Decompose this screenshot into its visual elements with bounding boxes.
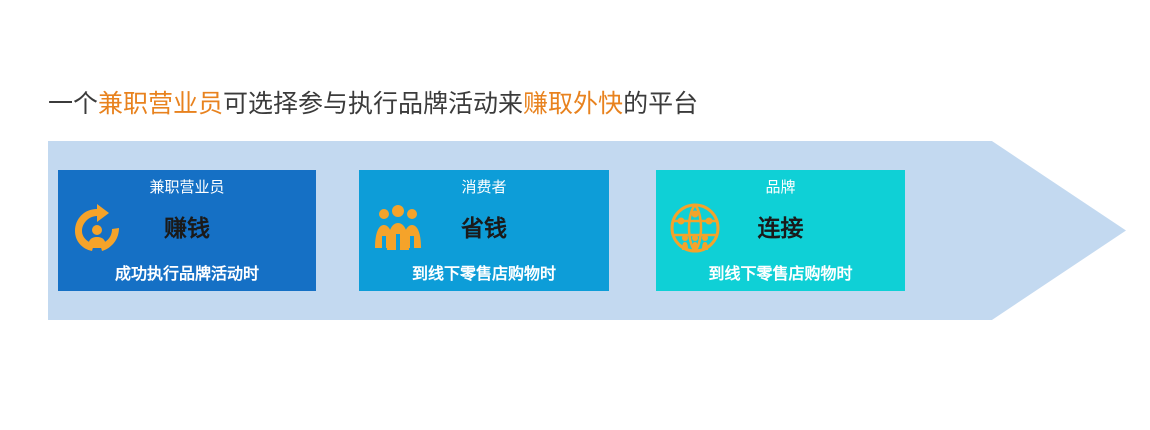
card-main: 连接	[656, 214, 905, 244]
card-title: 品牌	[656, 177, 905, 197]
card-main: 省钱	[359, 214, 609, 244]
card-brand[interactable]: 品牌 连接 到线下零售店购物时	[656, 170, 905, 291]
card-footer: 成功执行品牌活动时	[58, 263, 316, 285]
card-footer: 到线下零售店购物时	[359, 263, 609, 285]
card-part-time-clerk[interactable]: 兼职营业员 赚钱 成功执行品牌活动时	[58, 170, 316, 291]
page-headline: 一个兼职营业员可选择参与执行品牌活动来赚取外快的平台	[48, 88, 698, 120]
headline-segment-2: 兼职营业员	[98, 89, 223, 118]
card-consumer[interactable]: 消费者 省钱 到线下零售店购物时	[359, 170, 609, 291]
headline-segment-1: 一个	[48, 89, 98, 118]
headline-segment-4: 赚取外快	[523, 89, 623, 118]
headline-segment-5: 的平台	[623, 89, 698, 118]
headline-segment-3: 可选择参与执行品牌活动来	[223, 89, 523, 118]
card-title: 消费者	[359, 177, 609, 197]
card-footer: 到线下零售店购物时	[656, 263, 905, 285]
card-title: 兼职营业员	[58, 177, 316, 197]
cards-row: 兼职营业员 赚钱 成功执行品牌活动时 消费者 省钱 到线下零售店购物时	[58, 170, 905, 291]
card-main: 赚钱	[58, 214, 316, 244]
